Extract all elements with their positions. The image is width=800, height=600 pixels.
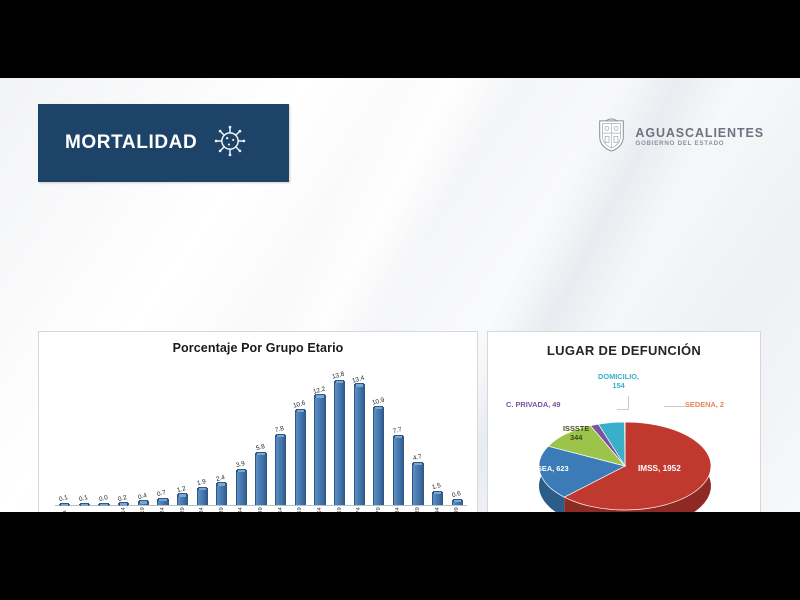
bar-column [236,470,247,505]
bar-chart-x-axis: < a 1a1 a 45 a 910 a 1415 a 1920 a 2425 … [55,507,467,512]
x-axis-tick: 30 a 34 [192,507,212,512]
x-axis-tick: 95 a 99 [448,507,468,512]
bar-column [197,488,208,505]
x-axis-label: 60 a 64 [317,507,323,512]
x-axis-tick: 15 a 19 [134,507,154,512]
bar-column [452,500,463,505]
bar-column [393,436,404,505]
bar-slot: 1.5 [428,366,448,505]
bar-chart-title: Porcentaje Por Grupo Etario [39,341,477,355]
pie-chart-plot: DOMICILIO,154 SEDENA, 2 C. PRIVADA, 49 I… [488,378,762,512]
bar-column [295,410,306,505]
pie-label-issea: ISSEA, 623 [530,464,569,473]
pie-label-imss: IMSS, 1952 [638,464,681,473]
x-axis-label: 5 a 9 [101,507,107,512]
x-axis-label: 55 a 59 [297,507,303,512]
bar-column [138,501,149,505]
x-axis-label: 10 a 14 [121,507,127,512]
section-banner: MORTALIDAD [38,104,289,182]
pie-label-issste: ISSSTE344 [563,424,589,443]
bar-slot: 7.8 [271,366,291,505]
pie-3d-graphic [517,414,733,512]
bar-slot: 1.9 [192,366,212,505]
bar-slot: 1.2 [173,366,193,505]
virus-icon [213,124,247,163]
screenshot-viewport: MORTALIDAD [0,0,800,600]
x-axis-label: 85 a 89 [415,507,421,512]
bar-column [373,407,384,505]
bar-slot: 0.1 [75,366,95,505]
bar-column [275,435,286,505]
leader-line-sedena [664,406,686,407]
x-axis-tick: 20 a 24 [153,507,173,512]
bar-column [334,381,345,505]
x-axis-label: 80 a 84 [395,507,401,512]
x-axis-tick: 5 a 9 [94,507,114,512]
x-axis-label: < a 1a [62,507,68,512]
bar-slot: 13.4 [349,366,369,505]
bar-slot: 2.4 [212,366,232,505]
bar-column [118,503,129,505]
pie-chart-title: LUGAR DE DEFUNCIÓN [488,343,760,358]
bar-slot: 0.1 [55,366,75,505]
bar-slot: 0.6 [448,366,468,505]
x-axis-tick: < a 1a [55,507,75,512]
bar-column [59,504,70,506]
bar-column [314,395,325,505]
bar-column [412,463,423,505]
x-axis-label: 45 a 49 [258,507,264,512]
x-axis-tick: 35 a 39 [212,507,232,512]
bar-slot: 3.9 [232,366,252,505]
bar-column [79,504,90,506]
bar-column [354,384,365,505]
bar-column [255,453,266,505]
coat-of-arms-icon [597,118,626,157]
bar-column [177,494,188,505]
bar-slot: 10.6 [291,366,311,505]
x-axis-tick: 10 a 14 [114,507,134,512]
x-axis-tick: 1 a 4 [75,507,95,512]
x-axis-tick: 50 a 54 [271,507,291,512]
x-axis-label: 75 a 79 [376,507,382,512]
bar-slot: 0.0 [94,366,114,505]
logo-subtitle: GOBIERNO DEL ESTADO [635,141,764,148]
x-axis-label: 90 a 94 [435,507,441,512]
x-axis-tick: 65 a 69 [330,507,350,512]
bar-chart-plot: 0.10.10.00.20.40.71.21.92.43.95.87.810.6… [55,366,467,506]
x-axis-tick: 80 a 84 [389,507,409,512]
logo-name: AGUASCALIENTES [635,127,764,140]
banner-title: MORTALIDAD [65,132,197,154]
bar-chart-panel: Porcentaje Por Grupo Etario 0.10.10.00.2… [38,331,478,512]
x-axis-label: 1 a 4 [81,507,87,512]
bar-column [216,483,227,505]
x-axis-tick: 60 a 64 [310,507,330,512]
bar-slot: 5.8 [251,366,271,505]
x-axis-label: 50 a 54 [278,507,284,512]
bar-column [432,492,443,506]
bar-slot: 13.8 [330,366,350,505]
x-axis-label: 40 a 44 [238,507,244,512]
x-axis-tick: 40 a 44 [232,507,252,512]
leader-line-domicilio-elbow [617,409,629,410]
x-axis-tick: 25 a 29 [173,507,193,512]
bar-slot: 0.7 [153,366,173,505]
presentation-slide: MORTALIDAD [0,78,800,512]
x-axis-tick: 45 a 49 [251,507,271,512]
x-axis-label: 65 a 69 [337,507,343,512]
bar-slot: 7.7 [389,366,409,505]
bar-slot: 0.4 [134,366,154,505]
pie-chart-panel: LUGAR DE DEFUNCIÓN DOMICILIO,154 SEDENA,… [487,331,761,512]
government-logo: AGUASCALIENTES GOBIERNO DEL ESTADO [597,118,764,157]
x-axis-label: 25 a 29 [180,507,186,512]
x-axis-tick: 75 a 79 [369,507,389,512]
x-axis-label: 20 a 24 [160,507,166,512]
pie-label-domicilio: DOMICILIO,154 [598,372,639,391]
x-axis-label: 70 a 74 [356,507,362,512]
x-axis-tick: 85 a 89 [408,507,428,512]
bar-slot: 12.2 [310,366,330,505]
bar-slot: 10.9 [369,366,389,505]
x-axis-label: 35 a 39 [219,507,225,512]
x-axis-label: 95 a 99 [454,507,460,512]
x-axis-label: 30 a 34 [199,507,205,512]
x-axis-tick: 90 a 94 [428,507,448,512]
bar-column [98,504,109,506]
bar-slot: 0.2 [114,366,134,505]
x-axis-tick: 70 a 74 [349,507,369,512]
bar-slot: 4.7 [408,366,428,505]
x-axis-label: 15 a 19 [140,507,146,512]
bar-column [157,499,168,505]
pie-label-sedena: SEDENA, 2 [685,400,724,409]
x-axis-tick: 55 a 59 [291,507,311,512]
pie-label-c-privada: C. PRIVADA, 49 [506,400,560,409]
leader-line-domicilio [628,396,629,410]
